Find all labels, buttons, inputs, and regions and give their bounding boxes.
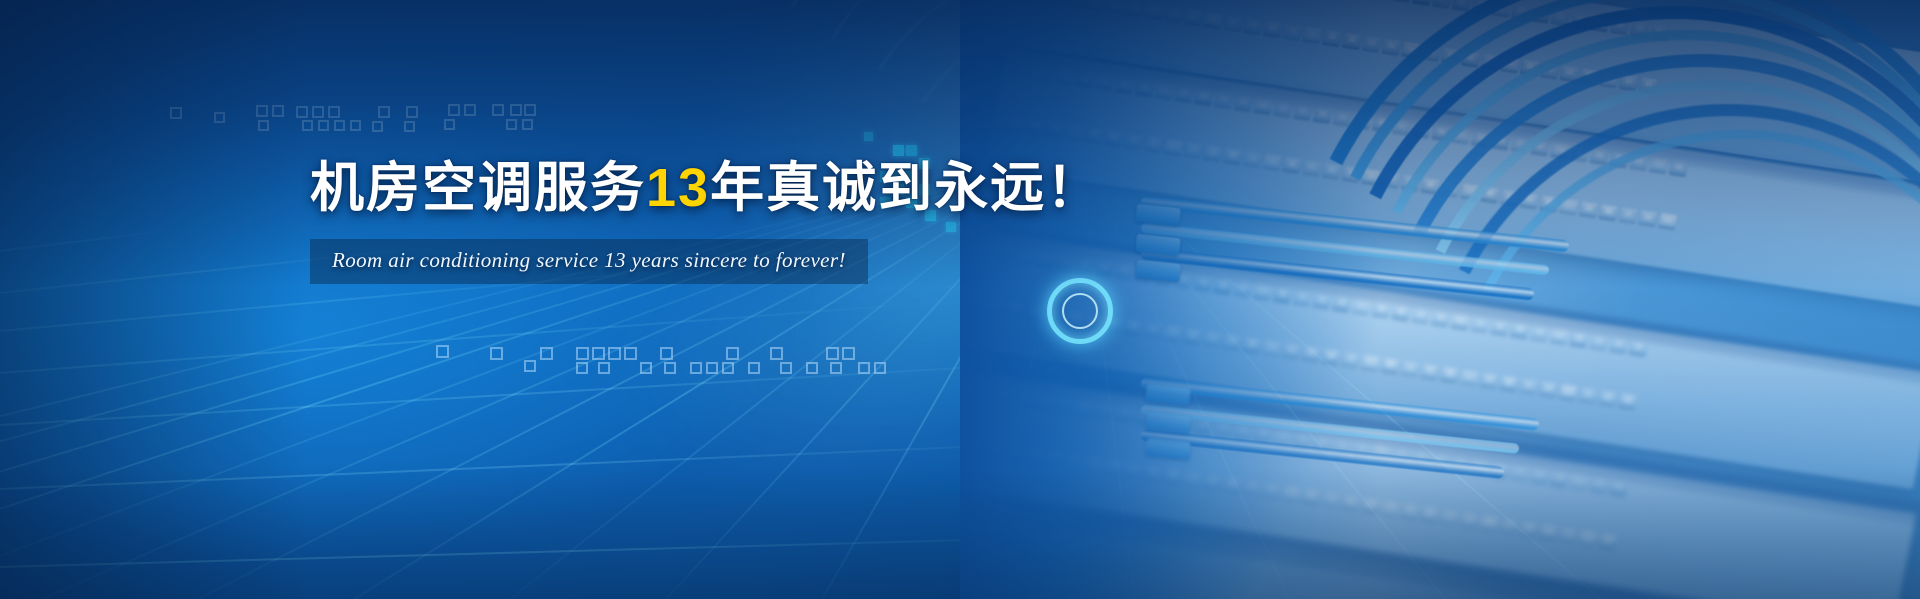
banner-subtitle: Room air conditioning service 13 years s… [332, 248, 846, 273]
top-shade-overlay [0, 0, 1920, 599]
headline-number: 13 [646, 158, 710, 218]
headline-suffix: 年真诚到永远！ [710, 158, 1102, 218]
hero-banner: 机房空调服务13年真诚到永远！ Room air conditioning se… [0, 0, 1920, 599]
subtitle-bar: Room air conditioning service 13 years s… [310, 239, 868, 284]
banner-copy: 机房空调服务13年真诚到永远！ Room air conditioning se… [310, 160, 950, 284]
headline-prefix: 机房空调服务 [310, 158, 646, 218]
page-title: 机房空调服务13年真诚到永远！ [310, 160, 950, 217]
